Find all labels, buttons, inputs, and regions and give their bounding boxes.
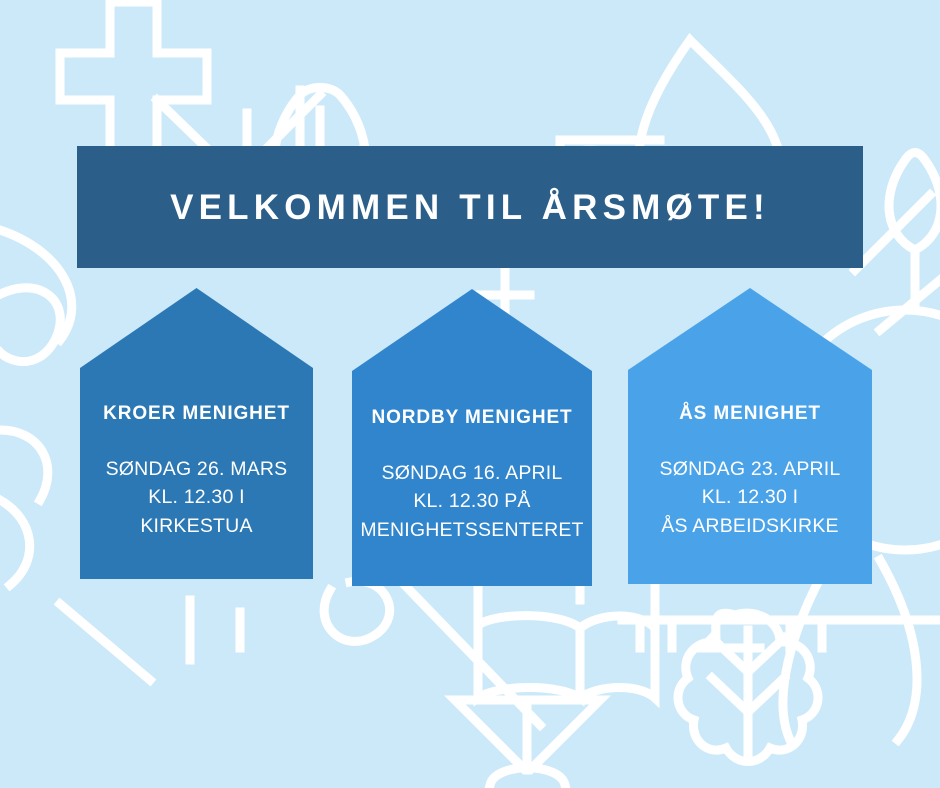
book-spine: [580, 616, 655, 698]
house-detail-line: SØNDAG 26. MARS: [80, 455, 313, 484]
flame-outline: [889, 153, 940, 251]
house-title-as: ÅS MENIGHET: [628, 403, 872, 426]
house-title-kroer: KROER MENIGHET: [80, 403, 313, 426]
house-details-nordby: SØNDAG 16. APRIL KL. 12.30 PÅ MENIGHETSS…: [352, 459, 592, 545]
house-card-kroer: KROER MENIGHET SØNDAG 26. MARS KL. 12.30…: [80, 288, 313, 579]
chalice-base: [490, 768, 565, 785]
house-content: ÅS MENIGHET SØNDAG 23. APRIL KL. 12.30 I…: [628, 403, 872, 541]
house-detail-line: SØNDAG 23. APRIL: [628, 455, 872, 484]
poster-canvas: VELKOMMEN TIL ÅRSMØTE! KROER MENIGHET SØ…: [0, 0, 940, 788]
tree-outline: [678, 613, 818, 761]
loop-shape-left: [0, 288, 60, 362]
page-title: VELKOMMEN TIL ÅRSMØTE!: [170, 190, 770, 225]
house-detail-line: ÅS ARBEIDSKIRKE: [628, 512, 872, 541]
house-details-as: SØNDAG 23. APRIL KL. 12.30 I ÅS ARBEIDSK…: [628, 455, 872, 541]
house-detail-line: KL. 12.30 I: [80, 483, 313, 512]
swirl-bottom-left: [324, 581, 390, 641]
chalice-bowl: [455, 700, 600, 770]
house-details-kroer: SØNDAG 26. MARS KL. 12.30 I KIRKESTUA: [80, 455, 313, 541]
house-detail-line: MENIGHETSSENTERET: [352, 516, 592, 545]
house-content: NORDBY MENIGHET SØNDAG 16. APRIL KL. 12.…: [352, 407, 592, 545]
teardrop-outline: [783, 560, 917, 740]
house-card-as: ÅS MENIGHET SØNDAG 23. APRIL KL. 12.30 I…: [628, 288, 872, 584]
house-detail-line: SØNDAG 16. APRIL: [352, 459, 592, 488]
fence-lines: [622, 620, 940, 648]
house-detail-line: KIRKESTUA: [80, 512, 313, 541]
mark-lines-bottom-left: [60, 600, 240, 680]
book-outline: [478, 616, 580, 698]
house-detail-line: KL. 12.30 I: [628, 483, 872, 512]
title-banner: VELKOMMEN TIL ÅRSMØTE!: [77, 146, 863, 268]
house-card-nordby: NORDBY MENIGHET SØNDAG 16. APRIL KL. 12.…: [352, 289, 592, 586]
long-diagonal: [395, 575, 540, 725]
house-detail-line: KL. 12.30 PÅ: [352, 487, 592, 516]
tree-trunk: [712, 630, 784, 760]
house-content: KROER MENIGHET SØNDAG 26. MARS KL. 12.30…: [80, 403, 313, 541]
curve-mid-left: [0, 430, 48, 585]
house-title-nordby: NORDBY MENIGHET: [352, 407, 592, 430]
abstract-curve-left: [0, 230, 72, 340]
